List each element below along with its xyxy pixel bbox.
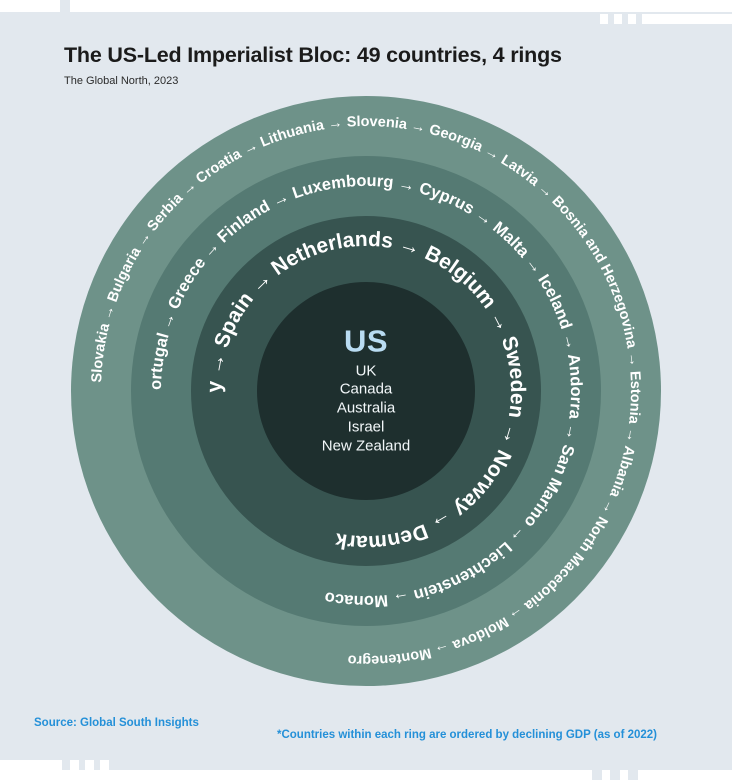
- decoration-top-right-dashes: [600, 14, 732, 24]
- core-member: Canada: [261, 381, 471, 400]
- core-leader-label: US: [261, 326, 471, 359]
- page-subtitle: The Global North, 2023: [64, 75, 684, 87]
- header: The US-Led Imperialist Bloc: 49 countrie…: [64, 44, 684, 87]
- page-title: The US-Led Imperialist Bloc: 49 countrie…: [64, 44, 684, 68]
- core-member: New Zealand: [261, 438, 471, 457]
- decoration-bottom-right-dashes: [592, 770, 732, 780]
- decoration-top-bar-gap: [60, 0, 70, 12]
- decoration-top-bar: [0, 0, 732, 12]
- ring-diagram: Poland → Romania → Czech Republic → Ukra…: [0, 96, 732, 686]
- core-content: US UK Canada Australia Israel New Zealan…: [261, 326, 471, 457]
- core-member: UK: [261, 362, 471, 381]
- inner-ring-label-text: Germany → France → Italy → Spain → Nethe…: [56, 73, 530, 554]
- decoration-bottom-left-dashes: [0, 760, 150, 770]
- source-credit: Source: Global South Insights: [34, 717, 199, 729]
- core-members-list: UK Canada Australia Israel New Zealand: [261, 362, 471, 456]
- core-member: Australia: [261, 400, 471, 419]
- footnote: *Countries within each ring are ordered …: [277, 729, 657, 741]
- core-member: Israel: [261, 419, 471, 438]
